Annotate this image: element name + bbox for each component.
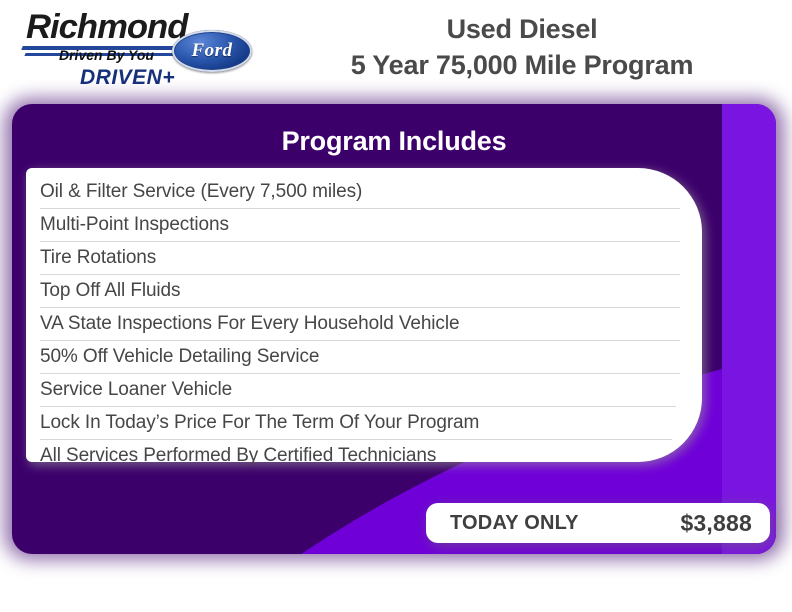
program-includes-banner: Program Includes bbox=[12, 116, 776, 166]
program-item-row: Tire Rotations bbox=[40, 242, 680, 275]
program-item-row: Lock In Today’s Price For The Term Of Yo… bbox=[40, 407, 672, 440]
ford-oval-icon: Ford bbox=[172, 30, 252, 72]
program-item-row: Top Off All Fluids bbox=[40, 275, 680, 308]
page-title-line1: Used Diesel bbox=[262, 12, 782, 48]
program-panel: Program Includes Oil & Filter Service (E… bbox=[0, 96, 792, 566]
program-item-label: Multi-Point Inspections bbox=[40, 214, 229, 236]
today-only-price: $3,888 bbox=[680, 510, 752, 537]
program-item-label: Tire Rotations bbox=[40, 247, 156, 269]
program-items-list: Oil & Filter Service (Every 7,500 miles)… bbox=[26, 168, 702, 462]
program-item-label: All Services Performed By Certified Tech… bbox=[40, 445, 436, 467]
banner-heading: Program Includes bbox=[282, 126, 507, 157]
program-item-label: Top Off All Fluids bbox=[40, 280, 180, 302]
program-item-row: 50% Off Vehicle Detailing Service bbox=[40, 341, 680, 374]
logo-driven-plus-mark: DRIVEN+ bbox=[80, 66, 175, 90]
today-only-price-pill: TODAY ONLY $3,888 bbox=[426, 503, 770, 543]
program-item-label: Lock In Today’s Price For The Term Of Yo… bbox=[40, 412, 479, 434]
program-item-row: All Services Performed By Certified Tech… bbox=[40, 440, 662, 472]
program-item-row: Oil & Filter Service (Every 7,500 miles) bbox=[40, 176, 680, 209]
richmond-ford-logo: Richmond Ford Driven By You DRIVEN+ bbox=[12, 6, 262, 90]
program-item-label: 50% Off Vehicle Detailing Service bbox=[40, 346, 319, 368]
program-item-label: VA State Inspections For Every Household… bbox=[40, 313, 459, 335]
flyer-canvas: Richmond Ford Driven By You DRIVEN+ Used… bbox=[0, 0, 792, 612]
program-item-label: Service Loaner Vehicle bbox=[40, 379, 232, 401]
program-item-row: Service Loaner Vehicle bbox=[40, 374, 676, 407]
program-item-row: VA State Inspections For Every Household… bbox=[40, 308, 680, 341]
logo-brand-wordmark: Richmond bbox=[26, 8, 187, 47]
panel-right-accent-bar bbox=[722, 104, 776, 554]
page-header: Richmond Ford Driven By You DRIVEN+ Used… bbox=[0, 0, 792, 96]
today-only-label: TODAY ONLY bbox=[450, 512, 579, 535]
program-item-row: Multi-Point Inspections bbox=[40, 209, 680, 242]
page-title-line2: 5 Year 75,000 Mile Program bbox=[262, 48, 782, 84]
program-item-label: Oil & Filter Service (Every 7,500 miles) bbox=[40, 181, 362, 203]
ford-oval-label: Ford bbox=[172, 30, 252, 72]
page-title: Used Diesel 5 Year 75,000 Mile Program bbox=[262, 12, 782, 83]
logo-tagline: Driven By You bbox=[59, 47, 154, 63]
